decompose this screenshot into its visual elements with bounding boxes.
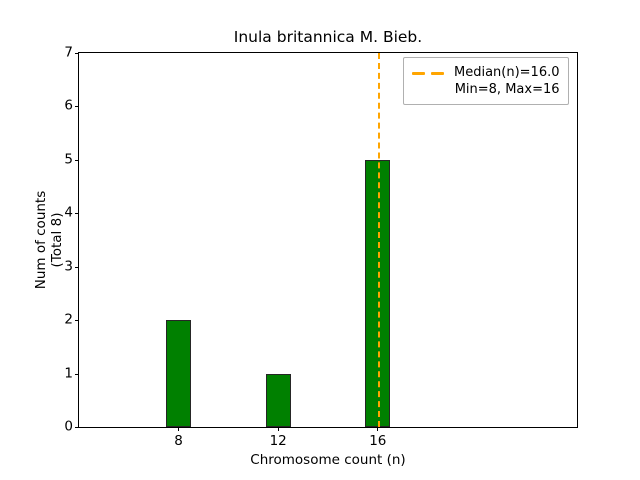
y-tick-mark (75, 160, 79, 161)
legend-label-median: Median(n)=16.0 (454, 64, 560, 81)
median-line-annotation (378, 53, 380, 427)
bar (166, 320, 191, 427)
x-axis-label: Chromosome count (n) (78, 452, 578, 468)
y-tick-mark (75, 427, 79, 428)
y-tick-mark (75, 213, 79, 214)
plot-area: 0123456781216 (78, 52, 578, 428)
chart-figure: Inula britannica M. Bieb. 0123456781216 … (0, 0, 640, 480)
x-tick-label: 8 (174, 434, 183, 448)
dashed-line-icon (412, 67, 446, 81)
legend-text: Median(n)=16.0 Min=8, Max=16 (454, 64, 560, 98)
x-tick-label: 16 (369, 434, 386, 448)
y-tick-mark (75, 374, 79, 375)
x-tick-label: 12 (270, 434, 287, 448)
y-tick-mark (75, 53, 79, 54)
x-tick-mark (178, 427, 179, 431)
legend-entry: Median(n)=16.0 Min=8, Max=16 (412, 64, 560, 98)
y-tick-mark (75, 320, 79, 321)
y-tick-mark (75, 267, 79, 268)
legend-label-minmax: Min=8, Max=16 (455, 81, 560, 98)
x-tick-mark (377, 427, 378, 431)
x-tick-mark (278, 427, 279, 431)
y-axis-label: Num of counts (Total 8) (33, 52, 73, 428)
bar (266, 374, 291, 427)
legend: Median(n)=16.0 Min=8, Max=16 (403, 57, 569, 105)
y-tick-mark (75, 106, 79, 107)
y-axis-label-line1: Num of counts (33, 191, 49, 290)
plot-inner (79, 53, 577, 427)
chart-title: Inula britannica M. Bieb. (78, 28, 578, 46)
y-axis-label-line2: (Total 8) (49, 213, 65, 268)
